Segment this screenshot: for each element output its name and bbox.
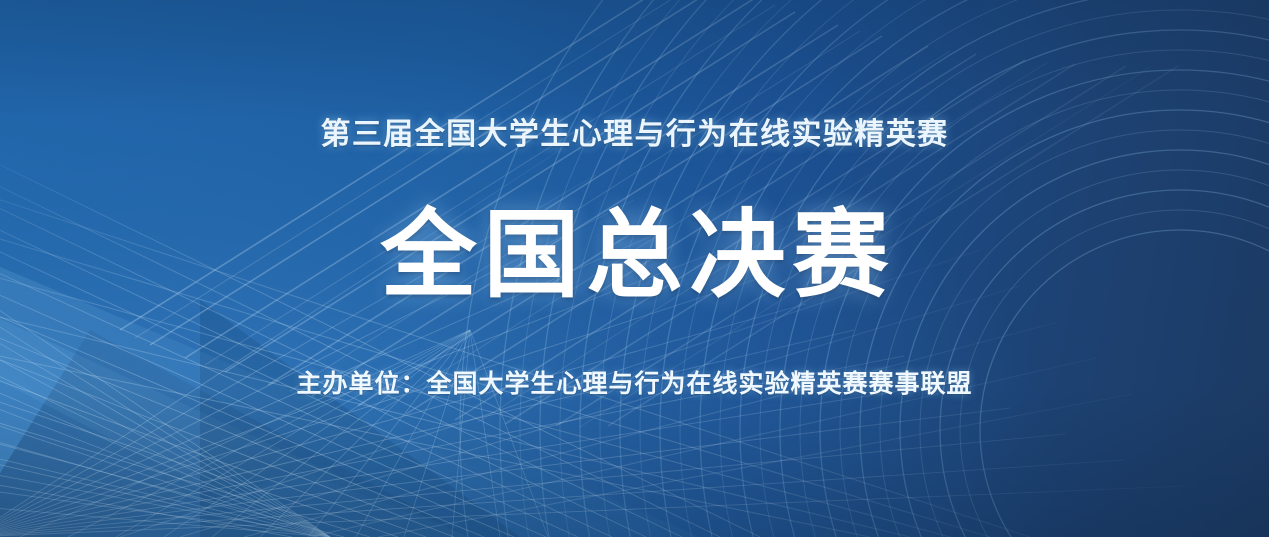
event-banner: 第三届全国大学生心理与行为在线实验精英赛 全国总决赛 主办单位：全国大学生心理与… — [0, 0, 1269, 537]
organizer-label: 主办单位：全国大学生心理与行为在线实验精英赛赛事联盟 — [0, 369, 1269, 399]
event-subtitle: 第三届全国大学生心理与行为在线实验精英赛 — [0, 118, 1269, 153]
page-title: 全国总决赛 — [0, 203, 1269, 309]
banner-content: 第三届全国大学生心理与行为在线实验精英赛 全国总决赛 主办单位：全国大学生心理与… — [0, 0, 1269, 537]
